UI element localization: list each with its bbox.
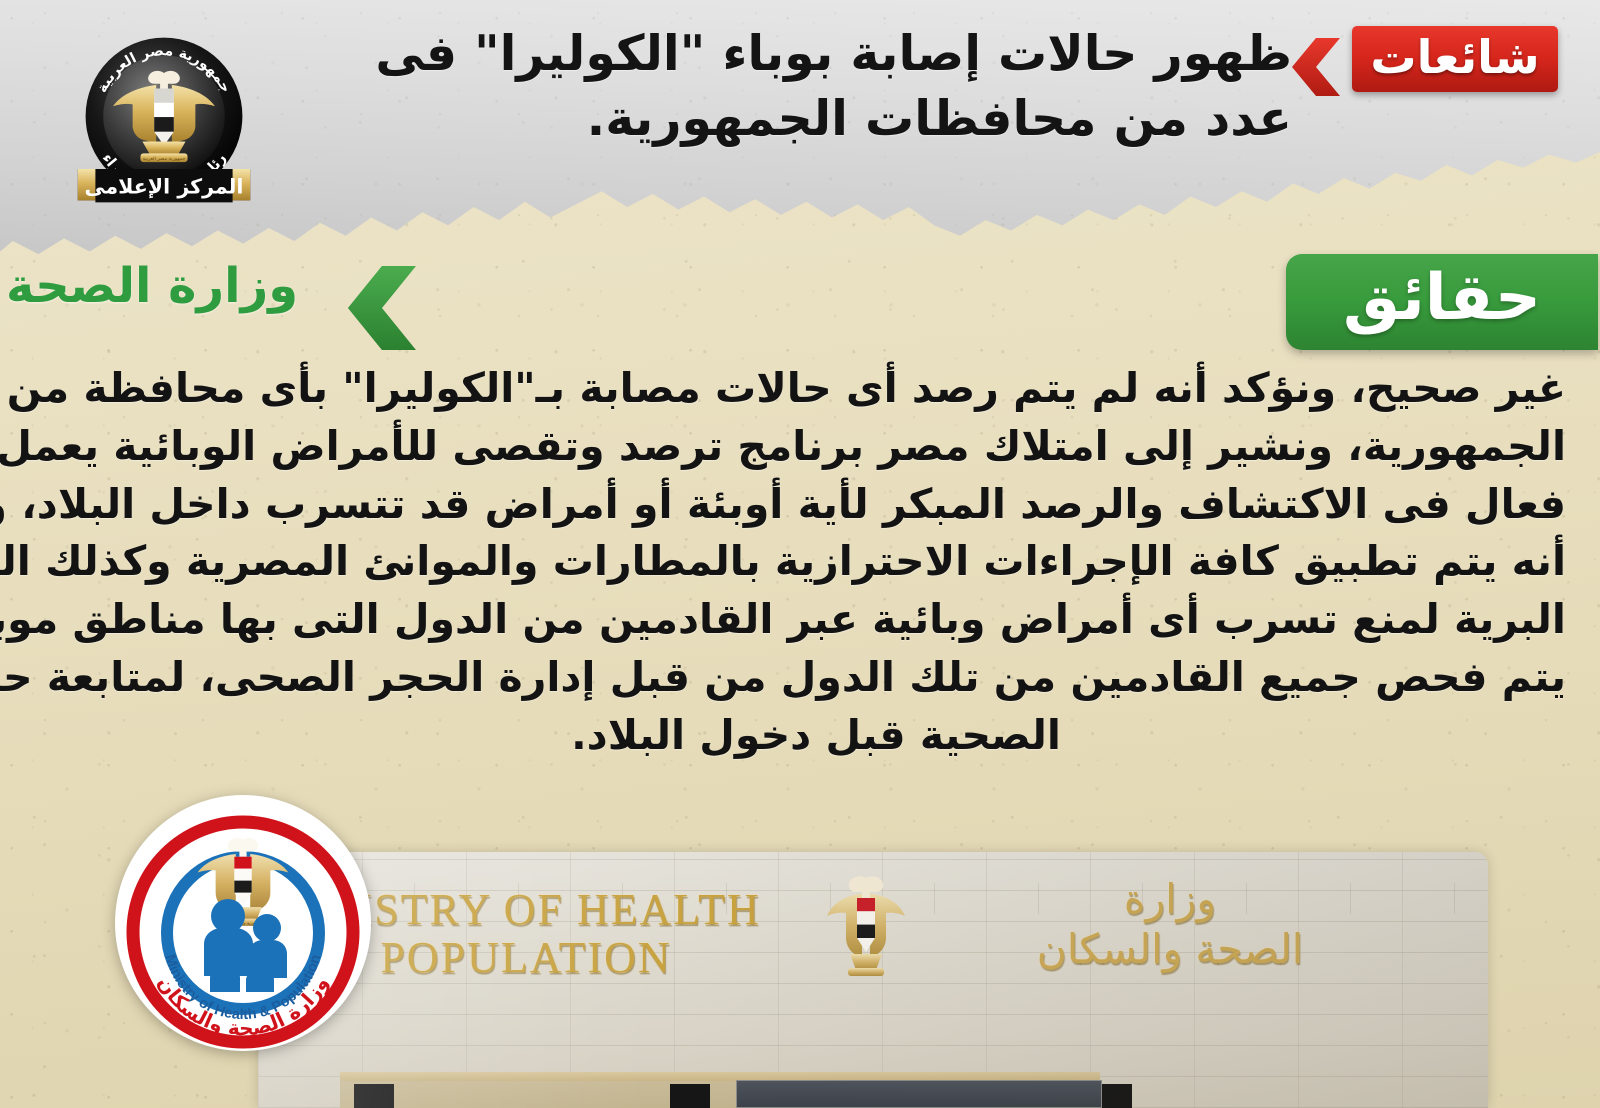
body-line: فعال فى الاكتشاف والرصد المبكر لأية أوبئ… xyxy=(66,476,1566,534)
rumor-badge: شائعات xyxy=(1352,26,1558,92)
photo-lighting-overlay xyxy=(258,852,1488,1108)
facts-badge: حقائق xyxy=(1286,254,1598,350)
svg-text:المركز الإعلامى: المركز الإعلامى xyxy=(85,175,244,199)
body-line: غير صحيح، ونؤكد أنه لم يتم رصد أى حالات … xyxy=(66,360,1566,418)
ministry-building-photo: MINISTRY OF HEALTH AND POPULATION وزارة … xyxy=(258,852,1488,1108)
fact-body-text: غير صحيح، ونؤكد أنه لم يتم رصد أى حالات … xyxy=(66,360,1566,765)
body-line: أنه يتم تطبيق كافة الإجراءات الاحترازية … xyxy=(66,533,1566,591)
ministry-name-label: وزارة الصحة والسكان: xyxy=(0,262,470,310)
body-line: الصحية قبل دخول البلاد. xyxy=(66,707,1566,765)
logo-ribbon: المركز الإعلامى xyxy=(78,169,250,202)
body-line: يتم فحص جميع القادمين من تلك الدول من قب… xyxy=(66,649,1566,707)
page-headline: ظهور حالات إصابة بوباء "الكوليرا" فى عدد… xyxy=(282,22,1292,151)
ministry-of-health-logo: جمهورية مصر العربية Ministry of Health &… xyxy=(112,792,374,1054)
body-line: البرية لمنع تسرب أى أمراض وبائية عبر الق… xyxy=(66,591,1566,649)
body-line: الجمهورية، ونشير إلى امتلاك مصر برنامج ت… xyxy=(66,418,1566,476)
infographic-poster: جمهورية مصر العربية رئاسة مجلس الوزراء ج… xyxy=(0,0,1600,1108)
cabinet-media-center-logo: جمهورية مصر العربية رئاسة مجلس الوزراء ج… xyxy=(66,22,262,218)
rumor-chevron-icon xyxy=(1290,36,1344,98)
svg-text:جمهورية مصر العربية: جمهورية مصر العربية xyxy=(142,156,185,162)
rumor-badge-label: شائعات xyxy=(1370,34,1539,85)
facts-badge-label: حقائق xyxy=(1343,266,1541,339)
